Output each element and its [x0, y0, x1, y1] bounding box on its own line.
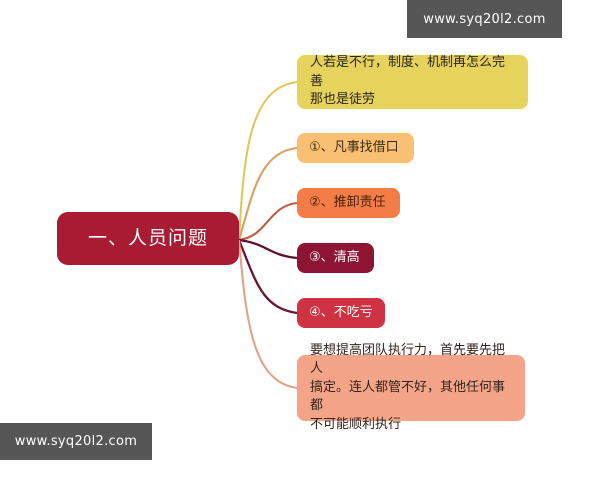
- connector-branch-5: [239, 240, 297, 313]
- watermark-top-right-text: www.syq20l2.com: [423, 12, 545, 27]
- watermark-bottom-left-text: www.syq20l2.com: [15, 434, 137, 449]
- mindmap-node-branch-3[interactable]: ②、推卸责任: [297, 188, 400, 218]
- connector-branch-4: [239, 240, 297, 258]
- mindmap-node-label-branch-1: 人若是不行，制度、机制再怎么完善 那也是徒劳: [310, 54, 515, 109]
- connector-branch-3: [239, 203, 297, 240]
- mindmap-node-branch-6[interactable]: 要想提高团队执行力，首先要先把人 搞定。连人都管不好，其他任何事都 不可能顺利执…: [297, 355, 525, 421]
- connector-branch-2: [239, 148, 297, 240]
- mindmap-canvas: 一、人员问题 人若是不行，制度、机制再怎么完善 那也是徒劳 ①、凡事找借口 ②、…: [0, 0, 600, 480]
- mindmap-root-label: 一、人员问题: [88, 225, 208, 252]
- mindmap-node-label-branch-5: ④、不吃亏: [309, 304, 373, 322]
- mindmap-node-branch-4[interactable]: ③、清高: [297, 243, 374, 273]
- mindmap-node-branch-1[interactable]: 人若是不行，制度、机制再怎么完善 那也是徒劳: [297, 55, 528, 109]
- watermark-bottom-left: www.syq20l2.com: [0, 423, 152, 460]
- mindmap-node-label-branch-3: ②、推卸责任: [309, 194, 386, 212]
- mindmap-node-label-branch-4: ③、清高: [309, 249, 360, 267]
- mindmap-node-branch-5[interactable]: ④、不吃亏: [297, 298, 385, 328]
- connector-branch-1: [239, 82, 297, 240]
- mindmap-root-node[interactable]: 一、人员问题: [57, 212, 239, 265]
- mindmap-node-label-branch-2: ①、凡事找借口: [309, 139, 399, 157]
- watermark-top-right: www.syq20l2.com: [407, 0, 562, 38]
- connector-branch-6: [239, 240, 297, 388]
- mindmap-node-branch-2[interactable]: ①、凡事找借口: [297, 133, 414, 163]
- mindmap-node-label-branch-6: 要想提高团队执行力，首先要先把人 搞定。连人都管不好，其他任何事都 不可能顺利执…: [310, 342, 512, 434]
